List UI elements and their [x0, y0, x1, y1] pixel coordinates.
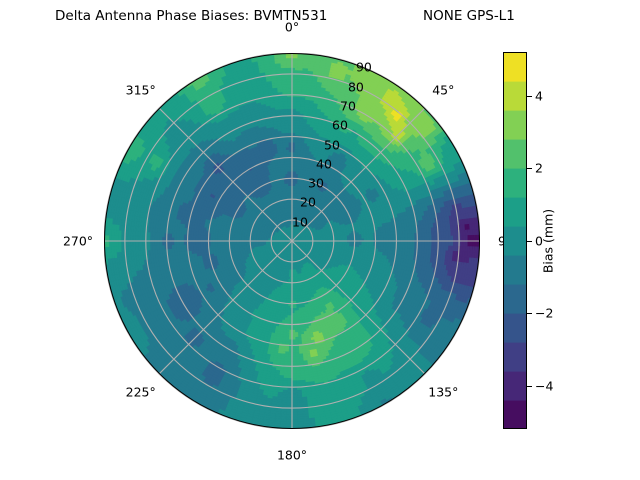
radial-tick-70: 70: [340, 98, 356, 113]
colorbar-tickmark-2: [527, 241, 532, 242]
colorbar-tickmark-3: [527, 313, 532, 314]
colorbar-gradient: [503, 52, 527, 429]
figure-canvas: Delta Antenna Phase Biases: BVMTN531 NON…: [0, 0, 640, 480]
radial-tick-80: 80: [348, 79, 364, 94]
polar-field-clip: [104, 53, 480, 429]
polar-axes: [104, 53, 480, 429]
angular-tick-270: 270°: [63, 234, 93, 249]
radial-tick-90: 90: [356, 60, 372, 75]
colorbar-tickmark-1: [527, 168, 532, 169]
contour-field: [104, 53, 480, 429]
radial-tick-40: 40: [316, 156, 332, 171]
angular-tick-45: 45°: [432, 82, 454, 97]
chart-title-sub: NONE GPS-L1: [423, 8, 515, 24]
angular-tick-225: 225°: [126, 385, 156, 400]
radial-tick-10: 10: [292, 214, 308, 229]
colorbar-tickmark-0: [527, 96, 532, 97]
colorbar-ticklabel-4: −4: [535, 378, 553, 393]
colorbar-axis-label: Bias (mm): [541, 209, 556, 273]
radial-tick-20: 20: [300, 195, 316, 210]
colorbar-tickmark-4: [527, 386, 532, 387]
colorbar-ticklabel-1: 2: [535, 161, 543, 176]
colorbar: [503, 52, 527, 429]
angular-tick-315: 315°: [126, 82, 156, 97]
radial-tick-60: 60: [332, 118, 348, 133]
colorbar-ticklabel-3: −2: [535, 306, 553, 321]
radial-tick-50: 50: [324, 137, 340, 152]
angular-tick-135: 135°: [428, 385, 458, 400]
colorbar-ticklabel-0: 4: [535, 88, 543, 103]
radial-tick-30: 30: [308, 176, 324, 191]
angular-tick-0: 0°: [285, 20, 299, 35]
angular-tick-180: 180°: [277, 448, 307, 463]
chart-title: Delta Antenna Phase Biases: BVMTN531 NON…: [55, 8, 555, 30]
